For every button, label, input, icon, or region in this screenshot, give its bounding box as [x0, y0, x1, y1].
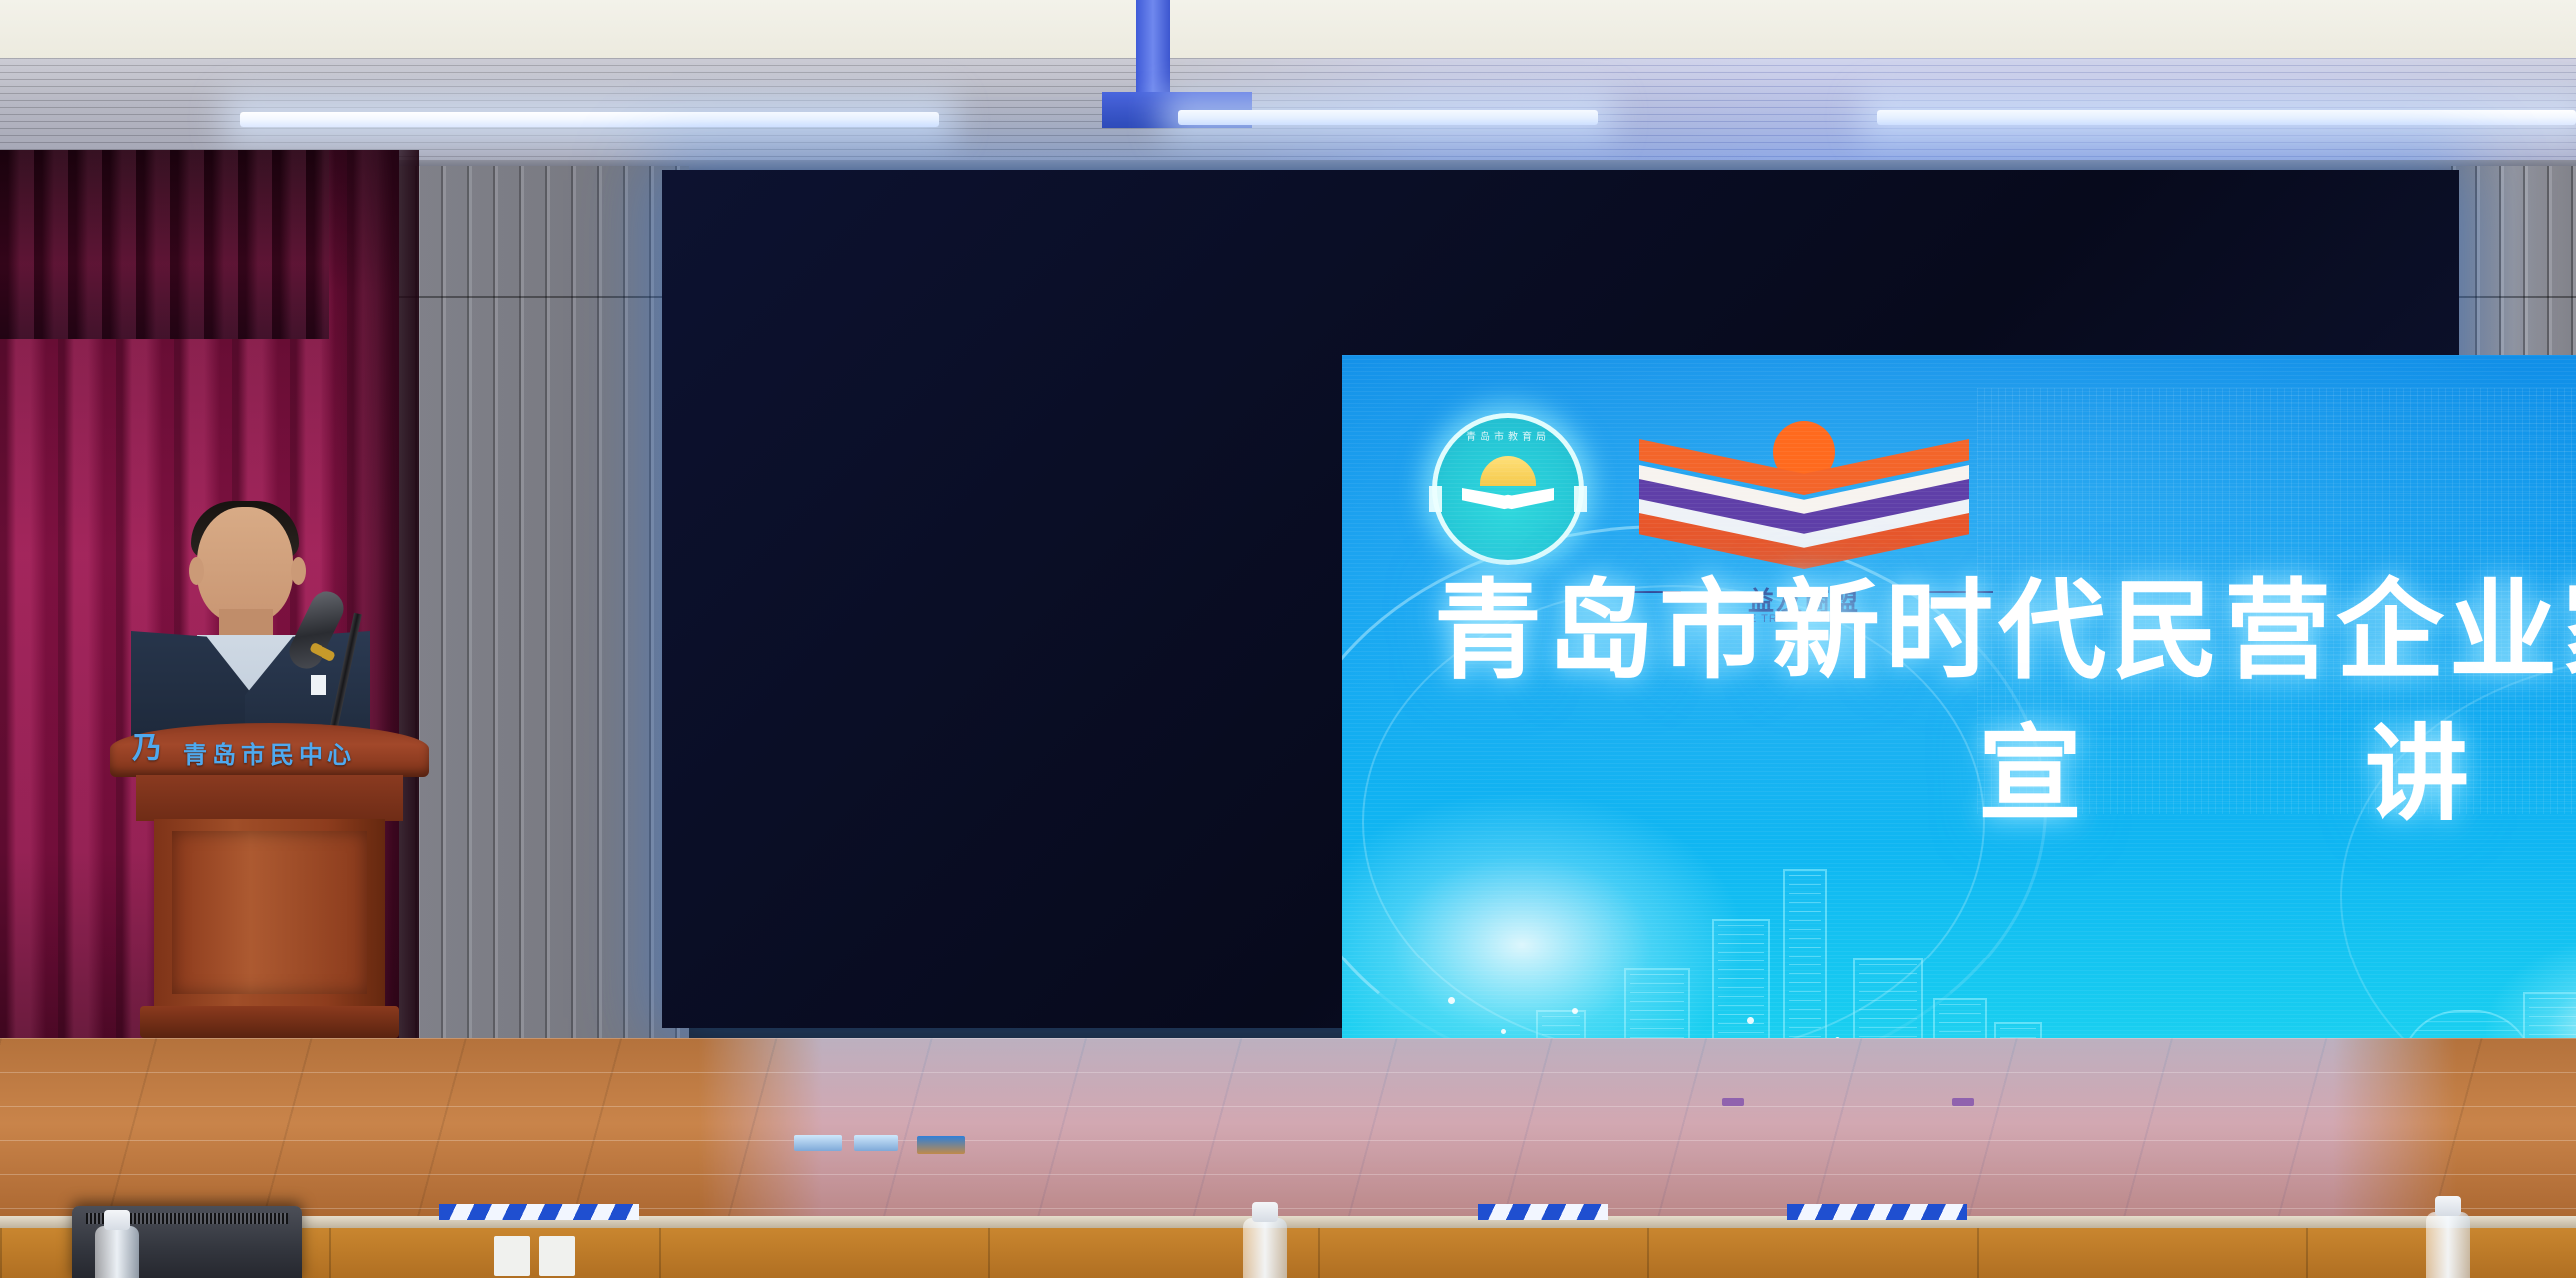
- paper-sheet: [494, 1236, 530, 1276]
- floor-object: [854, 1135, 898, 1151]
- water-bottle: [2426, 1212, 2470, 1278]
- presenter-badge: [311, 675, 326, 695]
- podium-body-panel: [172, 831, 367, 994]
- presenter-head: [197, 507, 293, 623]
- stage-front-panel: [0, 1228, 2576, 1278]
- presenter-ear-left: [189, 557, 204, 585]
- strip-light-3: [1877, 110, 2576, 125]
- floor-object: [1952, 1098, 1974, 1106]
- presenter-ear-right: [291, 557, 306, 585]
- podium-body: [154, 819, 385, 1008]
- paper-sheet: [539, 1236, 575, 1276]
- bottle-cap: [2435, 1196, 2461, 1216]
- safety-tape: [439, 1204, 639, 1220]
- water-bottle: [1243, 1218, 1287, 1278]
- bottle-cap: [1252, 1202, 1278, 1222]
- bottle-cap: [104, 1210, 130, 1230]
- podium: 乃 青岛市民中心: [110, 723, 429, 1038]
- strip-light-1: [240, 112, 939, 127]
- safety-tape: [1787, 1204, 1967, 1220]
- wall-seam-right: [2451, 296, 2576, 298]
- podium-base: [140, 1006, 399, 1038]
- curtain-valance: [0, 150, 329, 339]
- strip-light-2: [1178, 110, 1598, 125]
- water-bottle: [95, 1226, 139, 1278]
- floor-object: [1722, 1098, 1744, 1106]
- led-screen-bezel: 青岛市教育局 益友商盟 THE TRUE FRIENDSH: [662, 170, 2459, 1028]
- safety-tape: [1478, 1204, 1608, 1220]
- podium-top: 乃 青岛市民中心: [110, 723, 429, 777]
- ceiling-plaster: [0, 0, 2576, 62]
- floor-object: [917, 1136, 965, 1154]
- podium-label: 青岛市民中心: [110, 735, 429, 770]
- floor-screen-reflection: [699, 1038, 2456, 1228]
- podium-neck: [136, 775, 403, 821]
- auditorium-stage-photo: 青岛市教育局 益友商盟 THE TRUE FRIENDSH: [0, 0, 2576, 1278]
- floor-object: [794, 1135, 842, 1151]
